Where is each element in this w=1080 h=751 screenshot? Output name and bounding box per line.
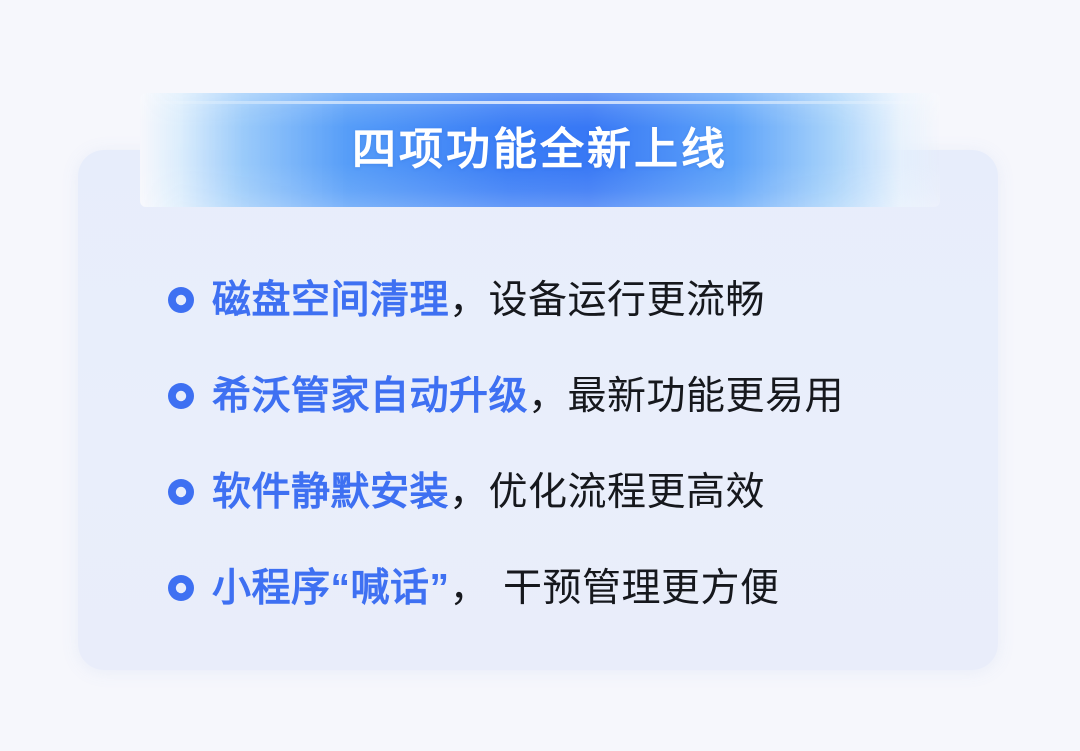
- list-item-highlight: 小程序“喊话”: [212, 567, 450, 610]
- list-item-highlight: 希沃管家自动升级: [212, 375, 528, 418]
- list-item-rest: 优化流程更高效: [489, 471, 766, 514]
- list-item-rest: 最新功能更易用: [568, 375, 845, 418]
- ring-bullet-icon: [168, 287, 194, 313]
- list-item-separator: ，: [449, 279, 489, 322]
- feature-list: 磁盘空间清理，设备运行更流畅 希沃管家自动升级，最新功能更易用 软件静默安装，优…: [168, 252, 968, 636]
- list-item-highlight: 磁盘空间清理: [212, 279, 449, 322]
- list-item: 软件静默安装，优化流程更高效: [168, 444, 968, 540]
- list-item-separator: ，: [450, 567, 490, 610]
- list-item-text: 软件静默安装，优化流程更高效: [212, 473, 765, 512]
- promo-graphic: 四项功能全新上线 磁盘空间清理，设备运行更流畅 希沃管家自动升级，最新功能更易用: [0, 0, 1080, 751]
- list-item-text: 磁盘空间清理，设备运行更流畅: [212, 281, 765, 320]
- ring-bullet-icon: [168, 383, 194, 409]
- list-item: 磁盘空间清理，设备运行更流畅: [168, 252, 968, 348]
- banner-header: 四项功能全新上线: [140, 93, 940, 207]
- list-item-text: 希沃管家自动升级，最新功能更易用: [212, 377, 844, 416]
- banner-title: 四项功能全新上线: [352, 128, 728, 172]
- list-item-separator: ，: [449, 471, 489, 514]
- list-item: 希沃管家自动升级，最新功能更易用: [168, 348, 968, 444]
- list-item-text: 小程序“喊话”，干预管理更方便: [212, 569, 780, 608]
- list-item-highlight: 软件静默安装: [212, 471, 449, 514]
- ring-bullet-icon: [168, 479, 194, 505]
- list-item-separator: ，: [528, 375, 568, 418]
- ring-bullet-icon: [168, 575, 194, 601]
- list-item-rest: 干预管理更方便: [503, 567, 780, 610]
- list-item-rest: 设备运行更流畅: [489, 279, 766, 322]
- list-item: 小程序“喊话”，干预管理更方便: [168, 540, 968, 636]
